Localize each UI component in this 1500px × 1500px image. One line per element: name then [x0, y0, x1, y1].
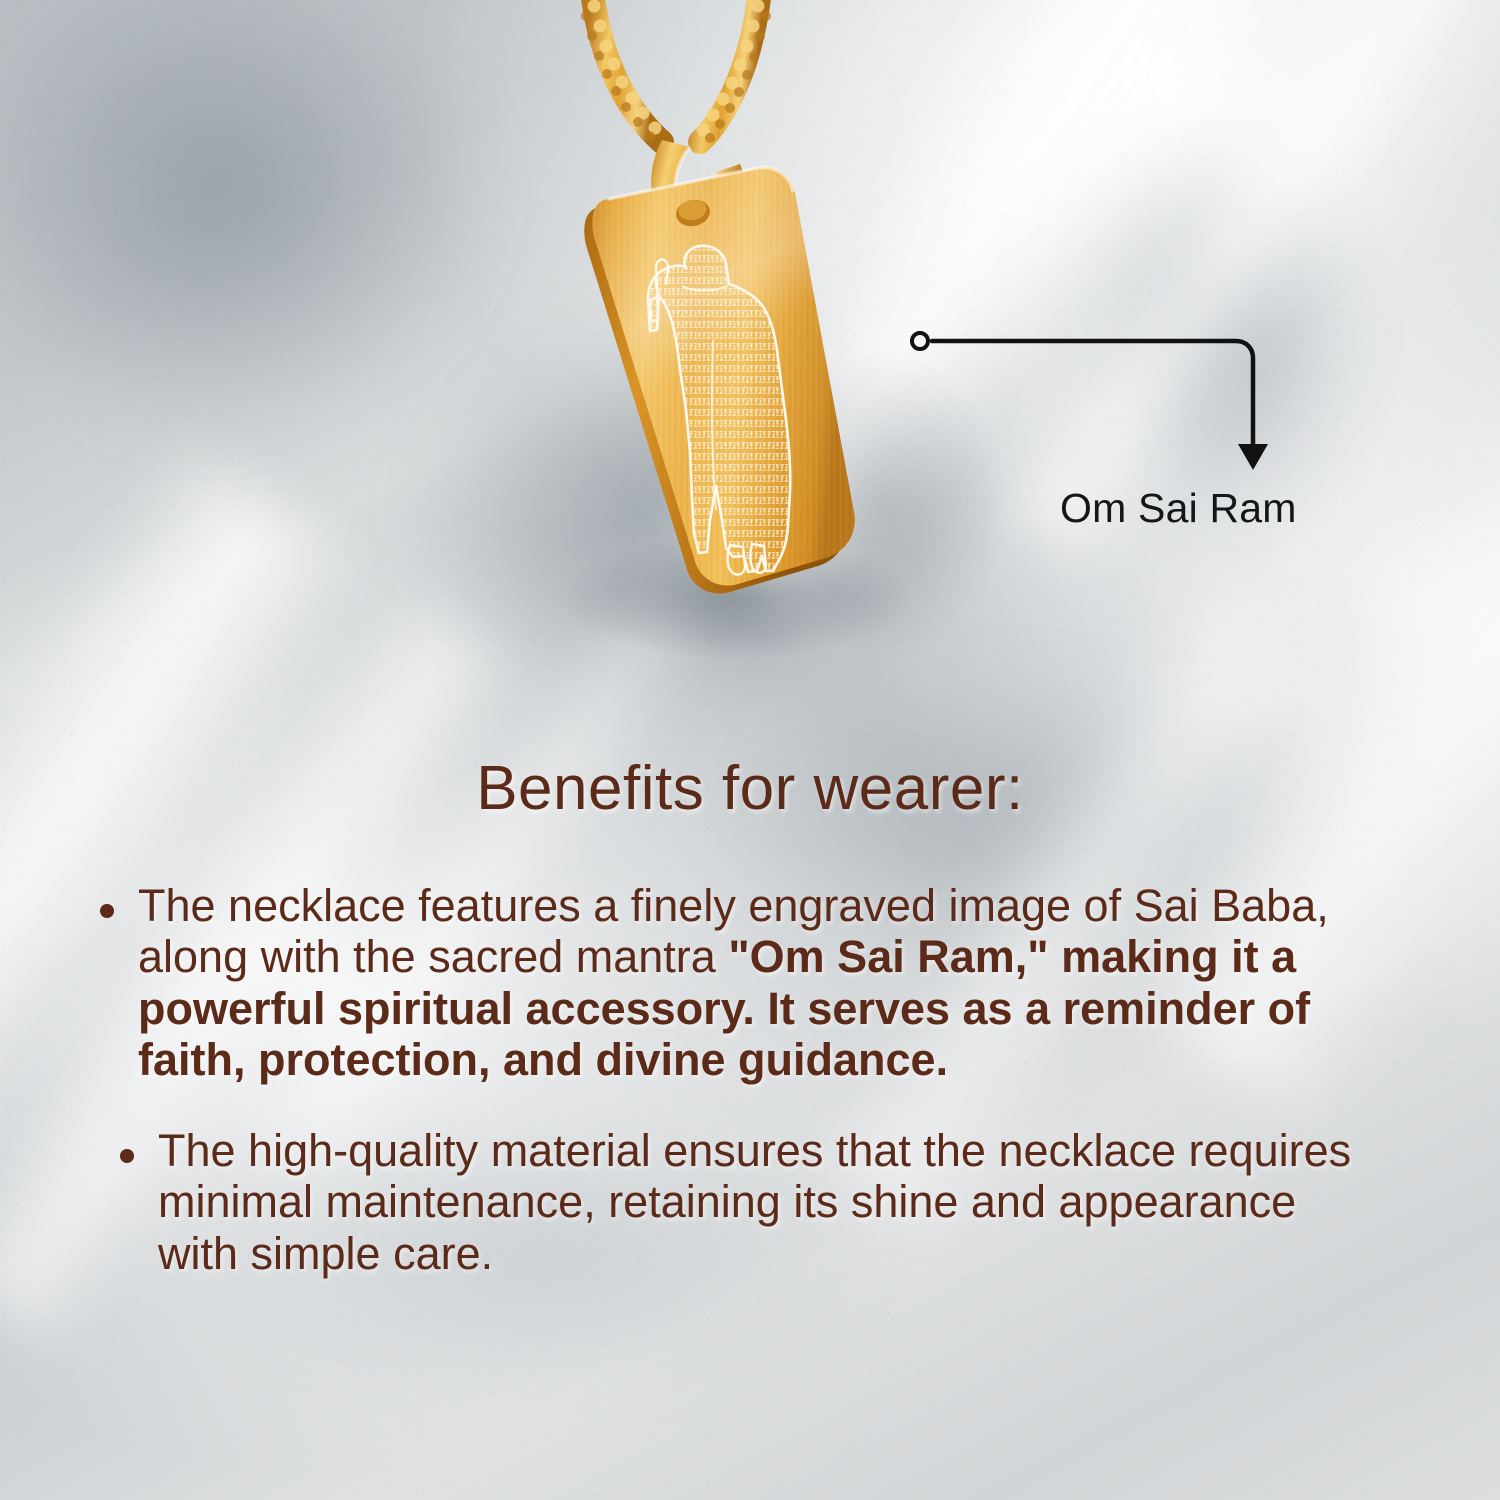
bullet-2-segment-regular: The high-quality material ensures that t… — [158, 1125, 1351, 1279]
bullet-dot-icon — [100, 904, 114, 918]
bullet-dot-icon — [120, 1149, 134, 1163]
product-infographic: Om Sai Ram Benefits for wearer: The neck… — [0, 0, 1500, 1500]
callout-leader-line — [932, 341, 1253, 448]
callout-label: Om Sai Ram — [1060, 485, 1460, 532]
page-title: Benefits for wearer: — [0, 753, 1500, 824]
benefits-list: The necklace features a finely engraved … — [0, 880, 1500, 1279]
circle-marker-icon — [912, 333, 928, 349]
callout-annotation — [0, 0, 1500, 560]
arrow-down-icon — [1238, 444, 1268, 470]
list-item: The necklace features a finely engraved … — [0, 880, 1500, 1085]
list-item-text: The necklace features a finely engraved … — [138, 880, 1412, 1085]
list-item-text: The high-quality material ensures that t… — [158, 1125, 1380, 1279]
list-item: The high-quality material ensures that t… — [0, 1125, 1500, 1279]
